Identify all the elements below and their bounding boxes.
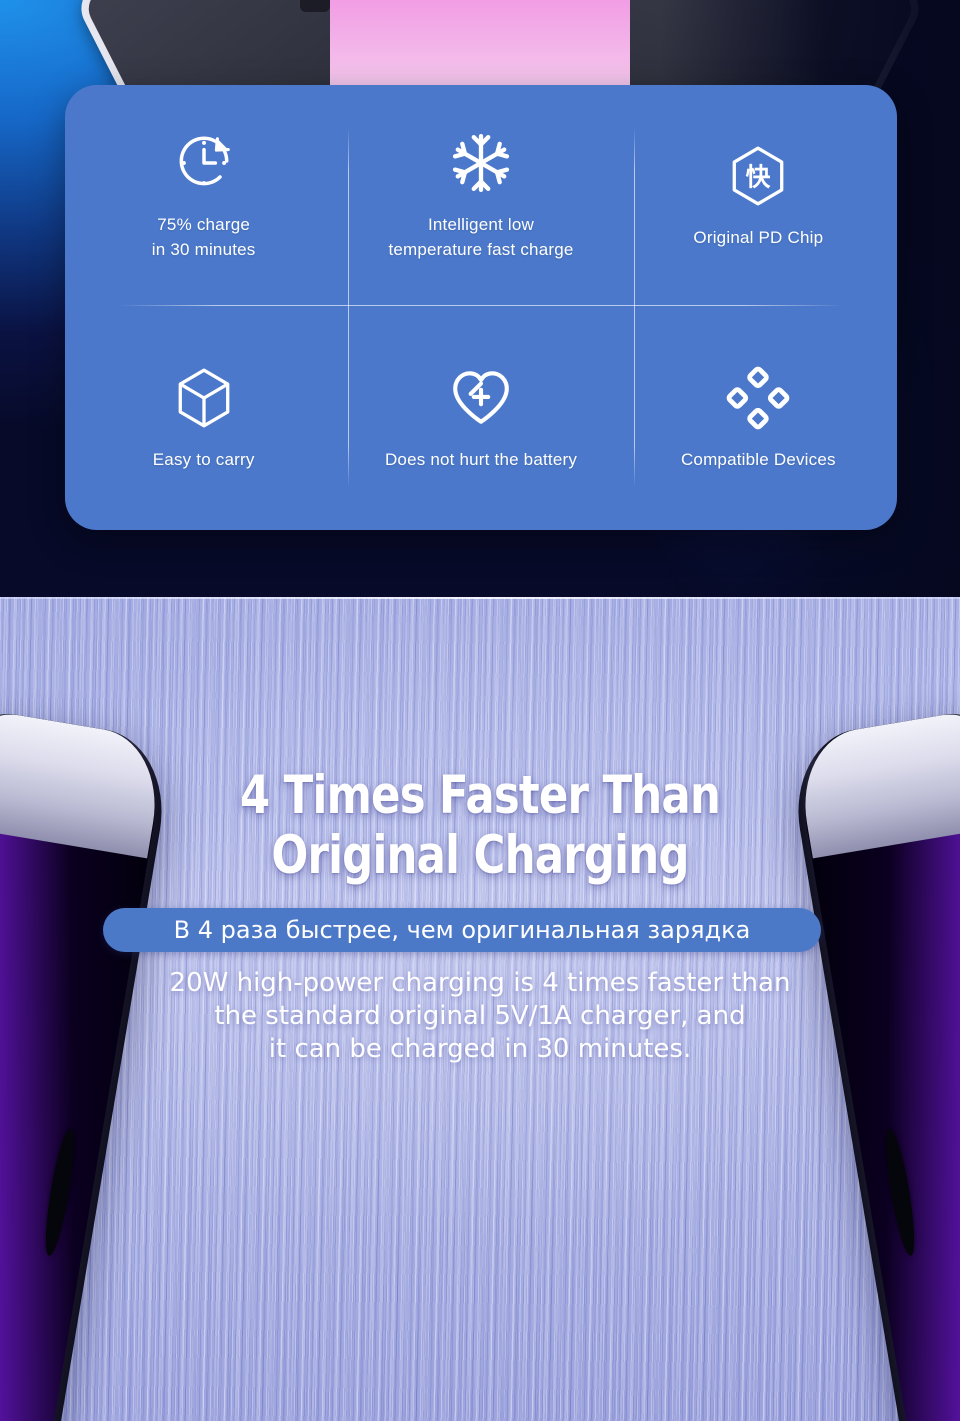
feature-label: Intelligent low temperature fast charge [388, 212, 573, 262]
feature-panel: 75% charge in 30 minutes [65, 85, 897, 530]
feature-label-line1: 75% charge [157, 215, 250, 234]
headline-line-1: 4 Times Faster Than [86, 767, 873, 825]
body-copy-line-2: the standard original 5V/1A charger, and [80, 1000, 880, 1033]
feature-label: Does not hurt the battery [385, 447, 577, 472]
feature-cell-compatible-devices: Compatible Devices [620, 308, 897, 531]
feature-label-line1: Original PD Chip [693, 228, 823, 247]
bottom-copy-block: 4 Times Faster Than Original Charging В … [0, 597, 960, 1421]
feature-label: Easy to carry [153, 447, 255, 472]
russian-subtitle-pill: В 4 раза быстрее, чем оригинальная заряд… [103, 908, 821, 952]
body-copy-line-3: it can be charged in 30 minutes. [80, 1033, 880, 1066]
feature-cell-low-temperature: Intelligent low temperature fast charge [342, 85, 619, 308]
feature-cell-easy-to-carry: Easy to carry [65, 308, 342, 531]
feature-cell-battery-safe: Does not hurt the battery [342, 308, 619, 531]
bottom-hero-section: 4 Times Faster Than Original Charging В … [0, 597, 960, 1421]
device-notch [300, 0, 330, 12]
top-hero-section: Keoi [0, 0, 960, 597]
feature-label-line1: Intelligent low [428, 215, 534, 234]
russian-subtitle-text: В 4 раза быстрее, чем оригинальная заряд… [174, 916, 751, 944]
feature-label: 75% charge in 30 minutes [152, 212, 256, 262]
feature-label: Compatible Devices [681, 447, 836, 472]
panel-divider-vertical-2 [634, 127, 635, 488]
heart-plus-icon [448, 365, 514, 431]
feature-grid: 75% charge in 30 minutes [65, 85, 897, 530]
body-copy-line-1: 20W high-power charging is 4 times faste… [80, 967, 880, 1000]
feature-cell-pd-chip: 快 Original PD Chip [620, 85, 897, 308]
panel-divider-horizontal [117, 305, 845, 306]
product-marketing-page: Keoi [0, 0, 960, 1421]
four-diamonds-icon [725, 365, 791, 431]
headline: 4 Times Faster Than Original Charging [86, 767, 873, 885]
feature-label-line2: in 30 minutes [152, 240, 256, 259]
body-copy: 20W high-power charging is 4 times faste… [80, 967, 880, 1066]
snowflake-icon [448, 130, 514, 196]
feature-label-line1: Easy to carry [153, 450, 255, 469]
feature-label: Original PD Chip [693, 225, 823, 250]
panel-divider-vertical-1 [348, 127, 349, 488]
clock-refresh-icon [171, 130, 237, 196]
feature-label-line2: temperature fast charge [388, 240, 573, 259]
hexagon-fast-chip-icon: 快 [725, 143, 791, 209]
feature-cell-fast-charge: 75% charge in 30 minutes [65, 85, 342, 308]
feature-label-line1: Does not hurt the battery [385, 450, 577, 469]
chip-glyph: 快 [746, 162, 771, 191]
cube-icon [171, 365, 237, 431]
headline-line-2: Original Charging [86, 827, 873, 885]
feature-label-line1: Compatible Devices [681, 450, 836, 469]
